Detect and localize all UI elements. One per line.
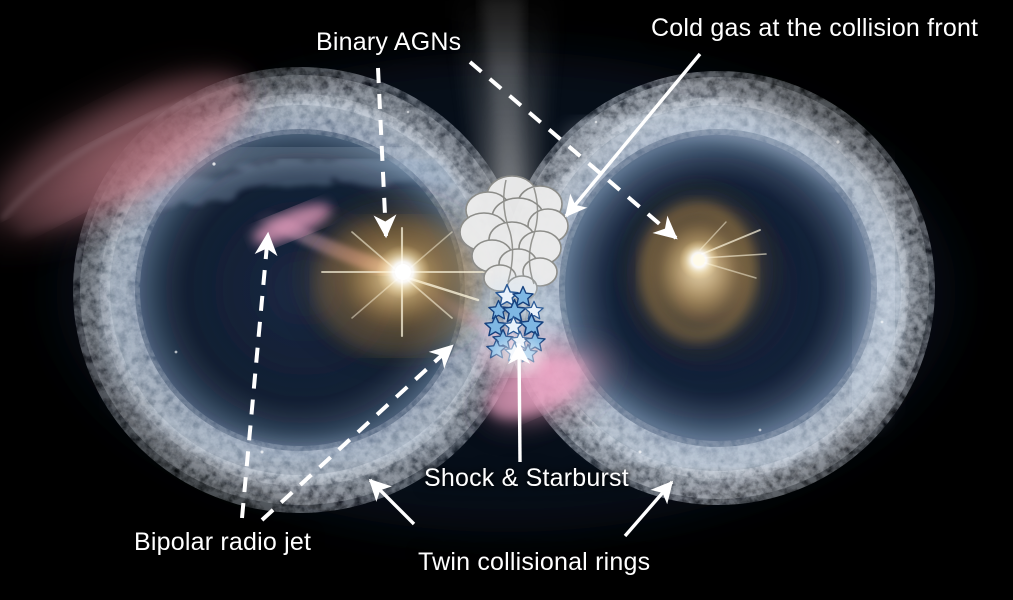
label-cold-gas: Cold gas at the collision front (651, 16, 978, 41)
label-twin-collisional-rings: Twin collisional rings (418, 550, 650, 575)
right-nucleus-point (693, 254, 705, 266)
label-shock-starburst: Shock & Starburst (424, 466, 629, 491)
left-nucleus-point (395, 264, 411, 280)
connector-shock-starburst (519, 344, 520, 462)
illustration-canvas: Binary AGNs Cold gas at the collision fr… (0, 0, 1013, 600)
right-agn-nucleus (614, 174, 786, 366)
astronomy-illustration-artwork (0, 0, 1013, 600)
label-binary-agns: Binary AGNs (316, 30, 461, 55)
label-bipolar-radio-jet: Bipolar radio jet (134, 530, 311, 555)
